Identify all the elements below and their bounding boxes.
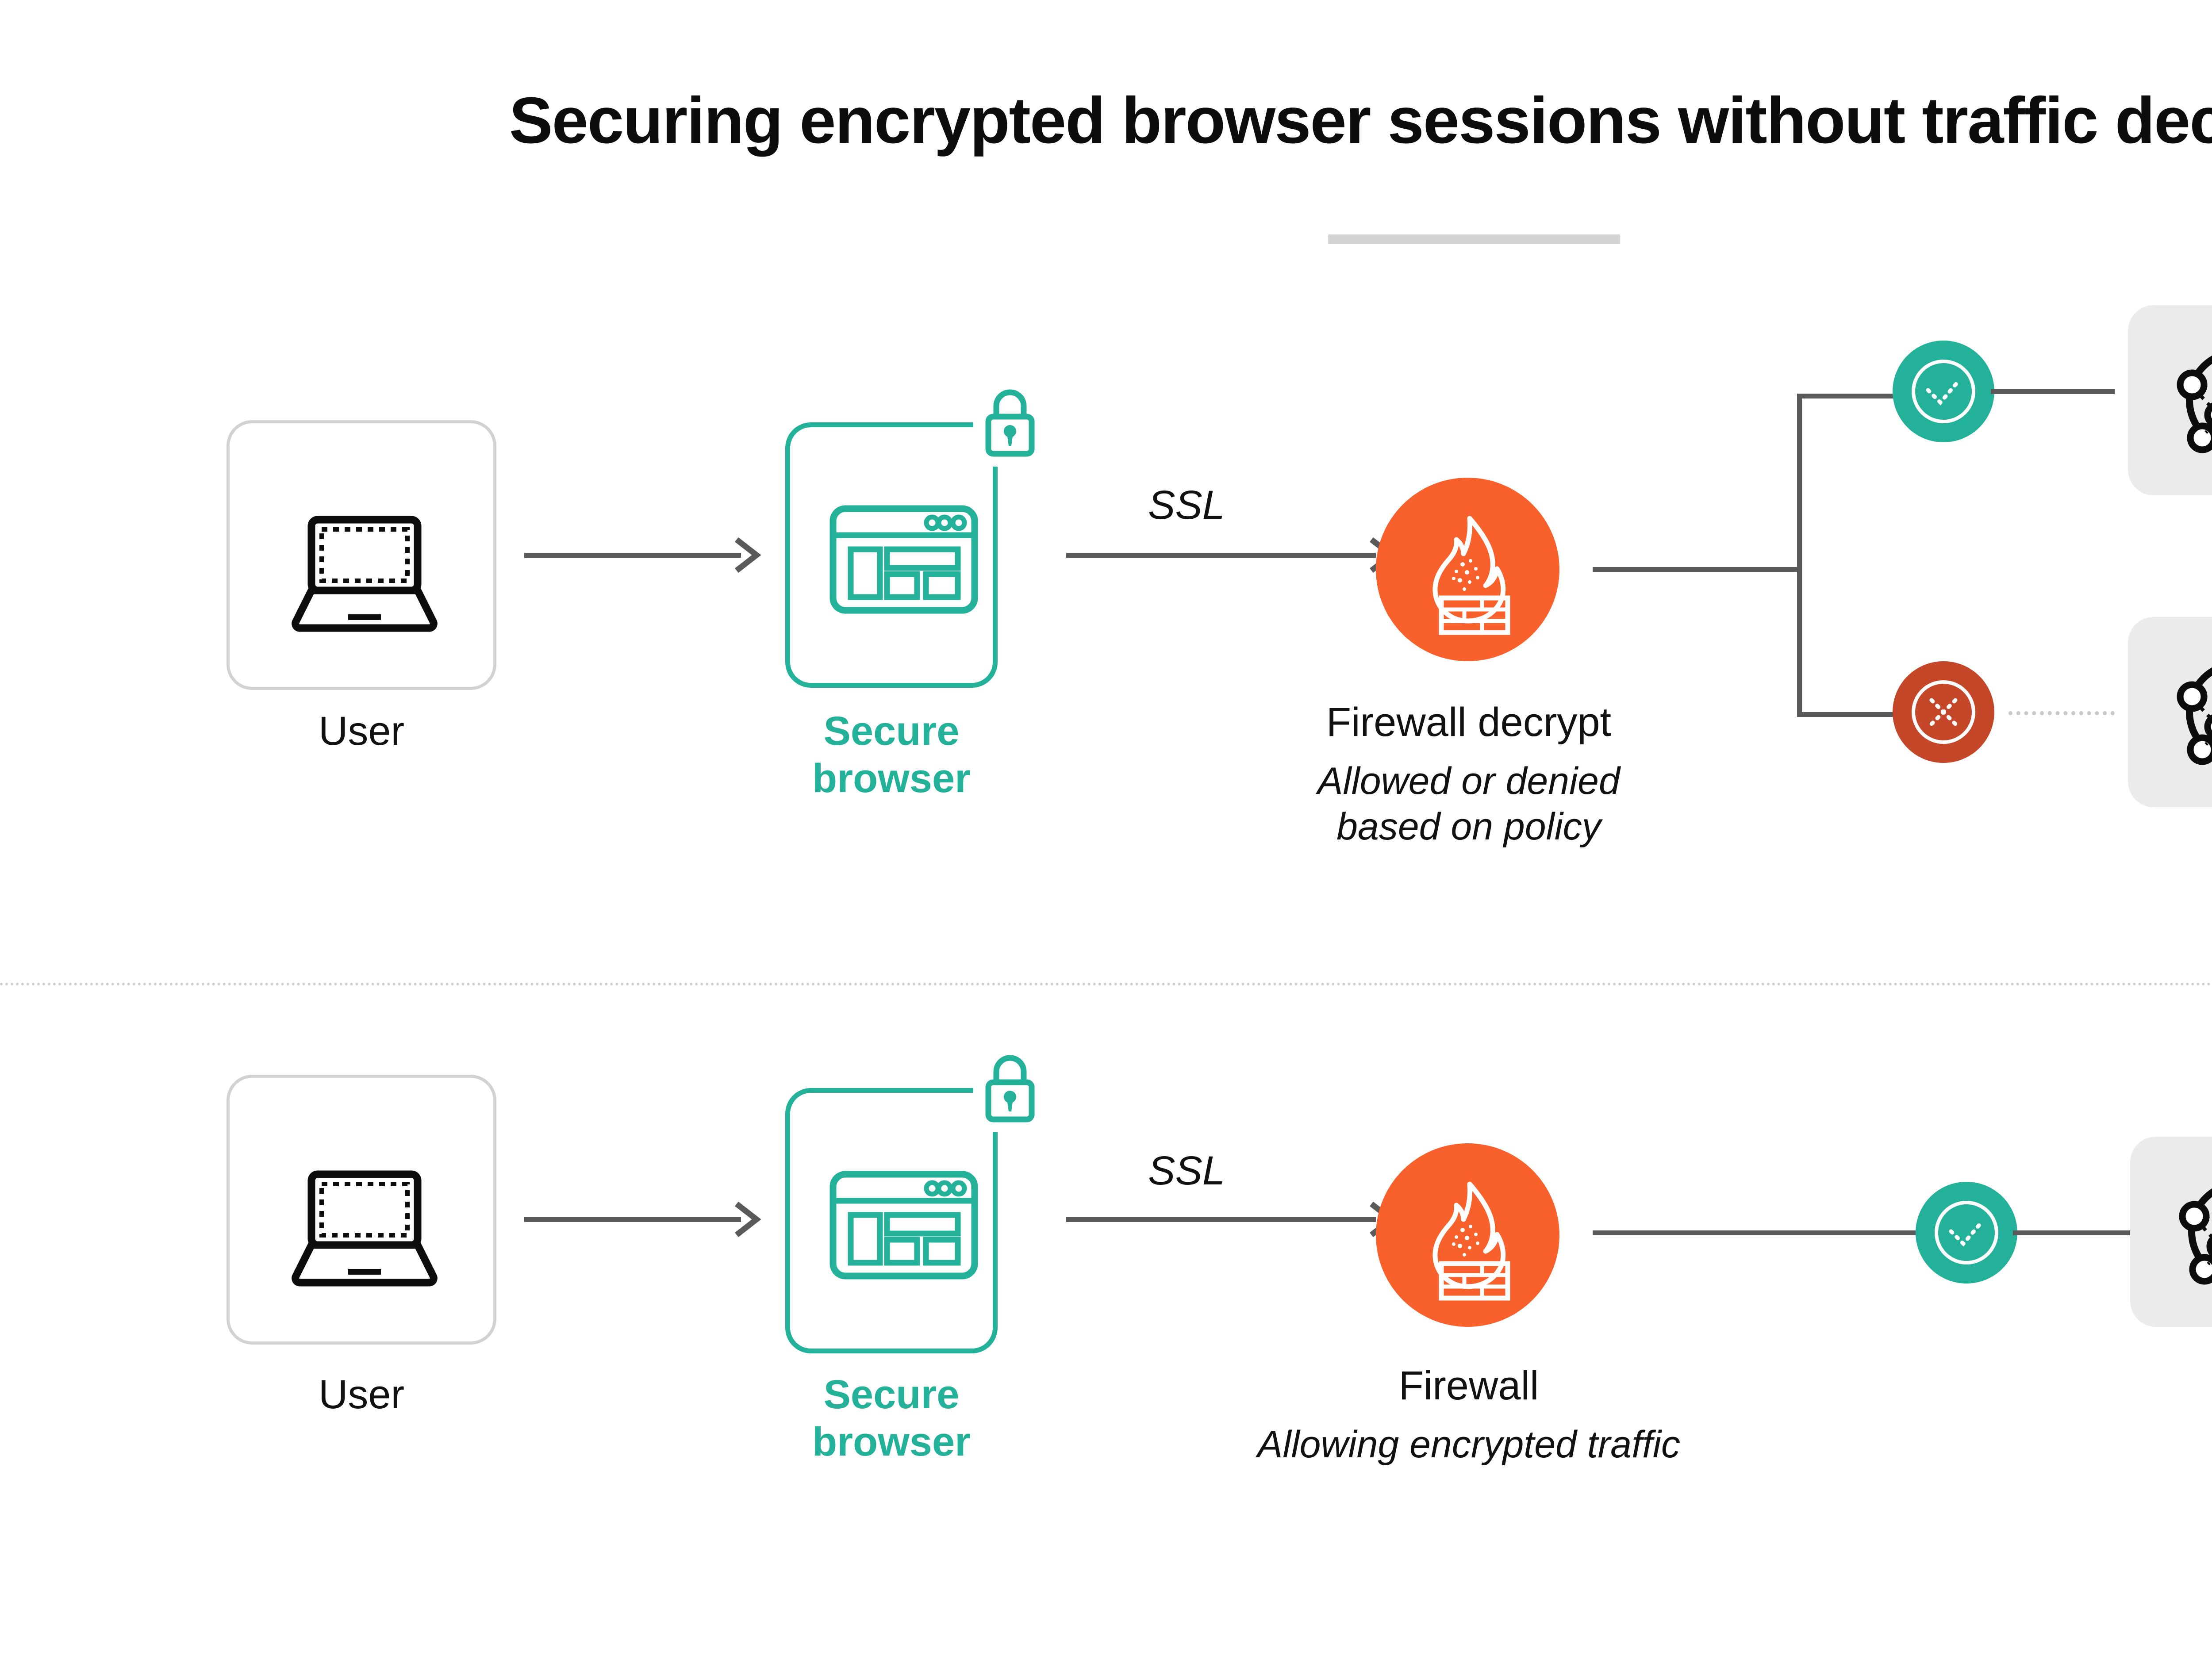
website-a-box xyxy=(2128,305,2212,495)
ssl-label-row1: SSL xyxy=(1148,482,1225,529)
firewall-sublabel-row1: Allowed or denied based on policy xyxy=(1197,759,1741,850)
firewall-label-row1: Firewall decrypt xyxy=(1197,699,1741,746)
laptop-icon xyxy=(230,423,499,693)
firewall-sublabel-row2: Allowing encrypted traffic xyxy=(1106,1422,1832,1467)
firewall-circle-row2 xyxy=(1376,1143,1559,1327)
connector-allowed-to-website-a xyxy=(1991,389,2115,394)
page-title: Securing encrypted browser sessions with… xyxy=(0,86,2212,155)
network-globe-icon xyxy=(2128,617,2212,807)
user-box-row1 xyxy=(227,420,496,690)
check-circle-icon xyxy=(1916,1182,2017,1284)
user-label-row1: User xyxy=(182,708,541,755)
connector-firewall-to-allowed-row2 xyxy=(1593,1230,1920,1235)
connector-allowed-to-internet xyxy=(2013,1230,2132,1235)
connector-browser-to-firewall-row2 xyxy=(1066,1217,1376,1222)
secure-browser-label-row2: Secure browser xyxy=(757,1371,1026,1465)
section-divider xyxy=(0,983,2212,985)
browser-window-icon xyxy=(785,1148,1006,1303)
network-globe-icon xyxy=(2130,1137,2212,1327)
network-globe-icon xyxy=(2128,305,2212,495)
denied-status-circle-row1 xyxy=(1893,661,1994,763)
internet-box xyxy=(2130,1137,2212,1327)
connector-user-to-browser-row2 xyxy=(524,1217,741,1222)
firewall-flame-icon xyxy=(1376,478,1559,661)
laptop-icon xyxy=(230,1078,499,1348)
check-circle-icon xyxy=(1893,341,1994,442)
arrowhead-icon xyxy=(732,535,772,575)
ssl-label-row2: SSL xyxy=(1148,1148,1225,1194)
browser-window-icon xyxy=(785,482,1006,637)
x-circle-icon xyxy=(1893,661,1994,763)
connector-denied-to-website-b xyxy=(2008,711,2115,715)
connector-firewall-to-branch-row1 xyxy=(1593,567,1801,572)
lock-icon xyxy=(977,1050,1043,1128)
allowed-status-circle-row2 xyxy=(1916,1182,2017,1284)
website-b-box xyxy=(2128,617,2212,807)
firewall-circle-row1 xyxy=(1376,478,1559,661)
firewall-flame-icon xyxy=(1376,1143,1559,1327)
allowed-status-circle-row1 xyxy=(1893,341,1994,442)
arrowhead-icon xyxy=(732,1199,772,1239)
firewall-label-row2: Firewall xyxy=(1285,1362,1652,1410)
secure-browser-label-row1: Secure browser xyxy=(757,708,1026,802)
branch-vertical-row1 xyxy=(1797,394,1802,716)
lock-icon xyxy=(977,385,1043,462)
user-box-row2 xyxy=(227,1075,496,1345)
title-underline-rule xyxy=(1328,234,1620,244)
connector-browser-to-firewall-row1 xyxy=(1066,553,1376,558)
user-label-row2: User xyxy=(182,1371,541,1418)
connector-user-to-browser-row1 xyxy=(524,553,741,558)
